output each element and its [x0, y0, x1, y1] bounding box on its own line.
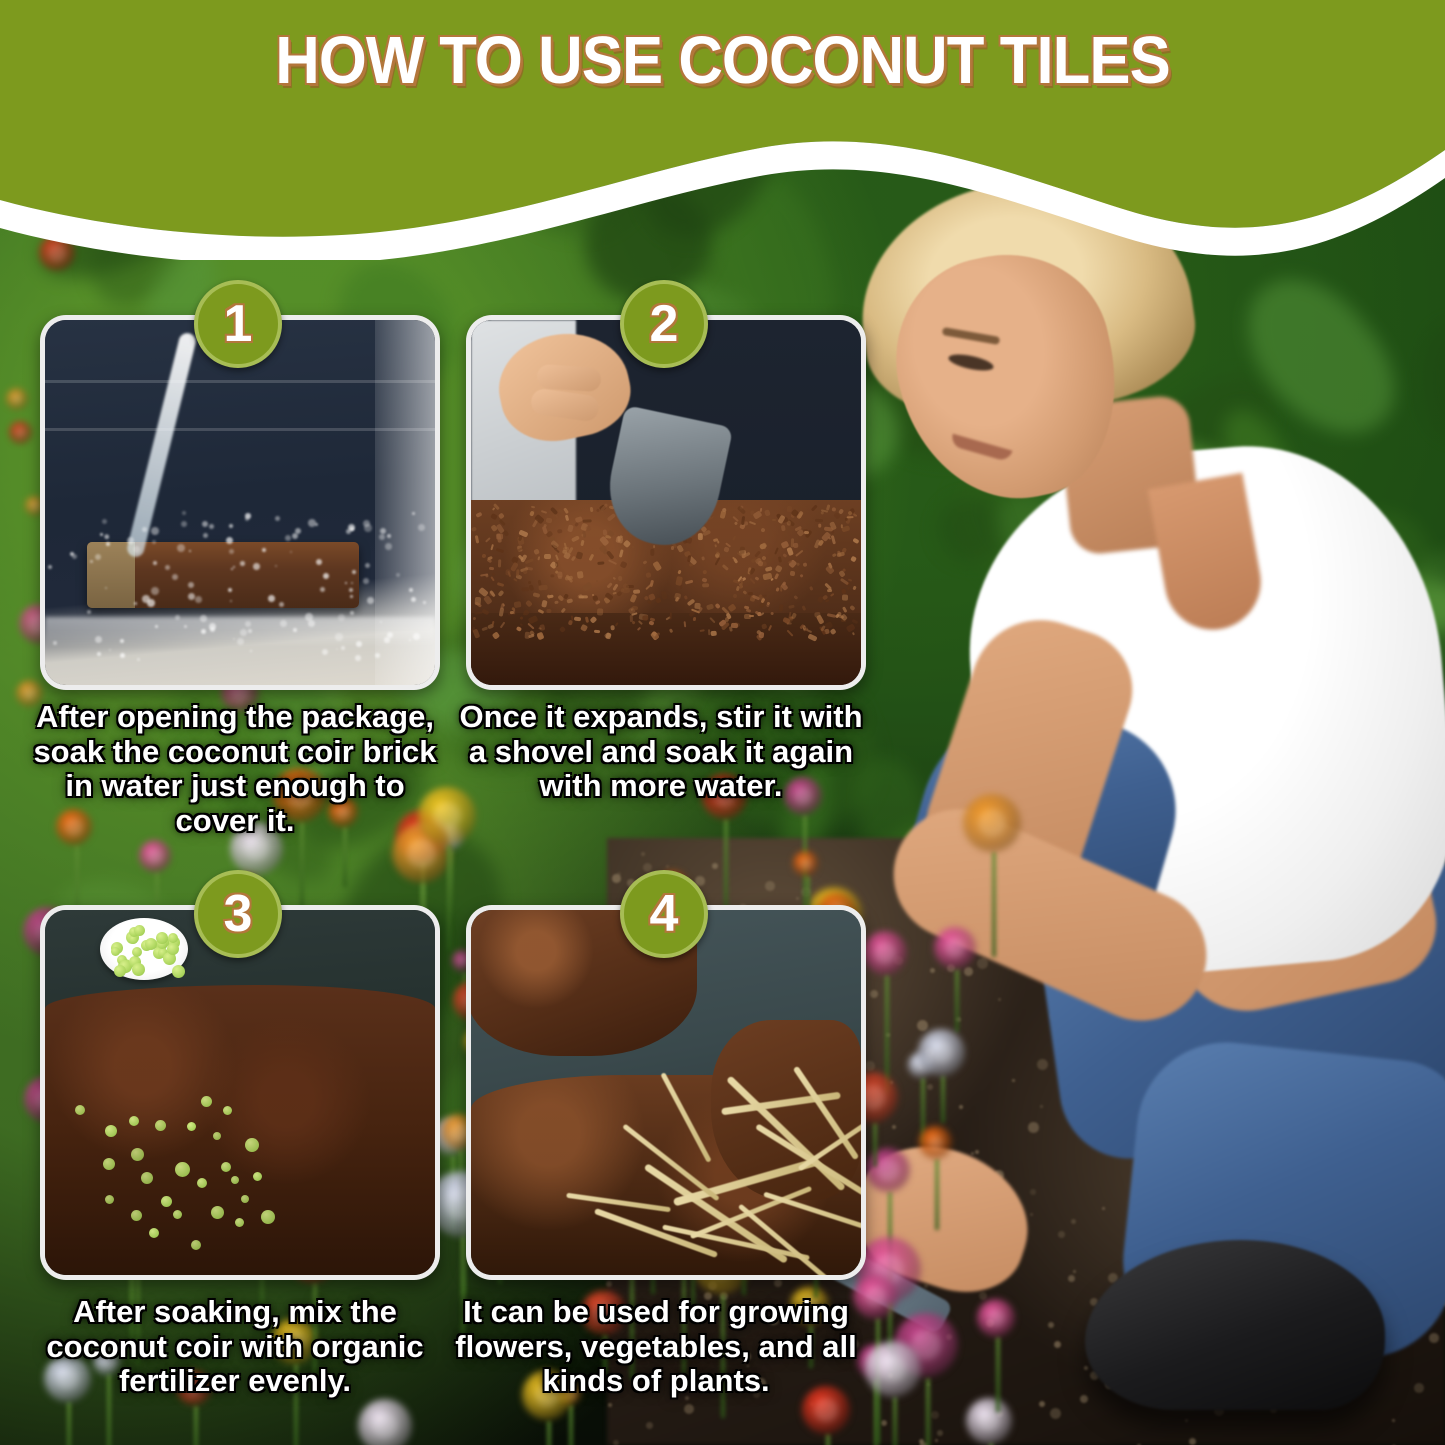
step-badge-4: 4	[620, 870, 708, 958]
soaked-coir	[45, 985, 435, 1275]
page-title: HOW TO USE COCONUT TILES	[58, 22, 1387, 99]
step-2-caption: Once it expands, stir it with a shovel a…	[455, 700, 867, 804]
step-badge-3: 3	[194, 870, 282, 958]
gardener-figure	[830, 150, 1445, 1445]
step-2-image[interactable]	[466, 315, 866, 690]
step-badge-2: 2	[620, 280, 708, 368]
step-1-image[interactable]	[40, 315, 440, 690]
infographic-root: HOW TO USE COCONUT TILES	[0, 0, 1445, 1445]
step-3-image[interactable]	[40, 905, 440, 1280]
step-1-caption: After opening the package, soak the coco…	[29, 700, 441, 839]
step-3-caption: After soaking, mix the coconut coir with…	[29, 1295, 441, 1399]
step-4-image[interactable]	[466, 905, 866, 1280]
header-banner: HOW TO USE COCONUT TILES	[0, 0, 1445, 260]
step-badge-1: 1	[194, 280, 282, 368]
finger	[536, 364, 602, 392]
step-4-caption: It can be used for growing flowers, vege…	[450, 1295, 862, 1399]
